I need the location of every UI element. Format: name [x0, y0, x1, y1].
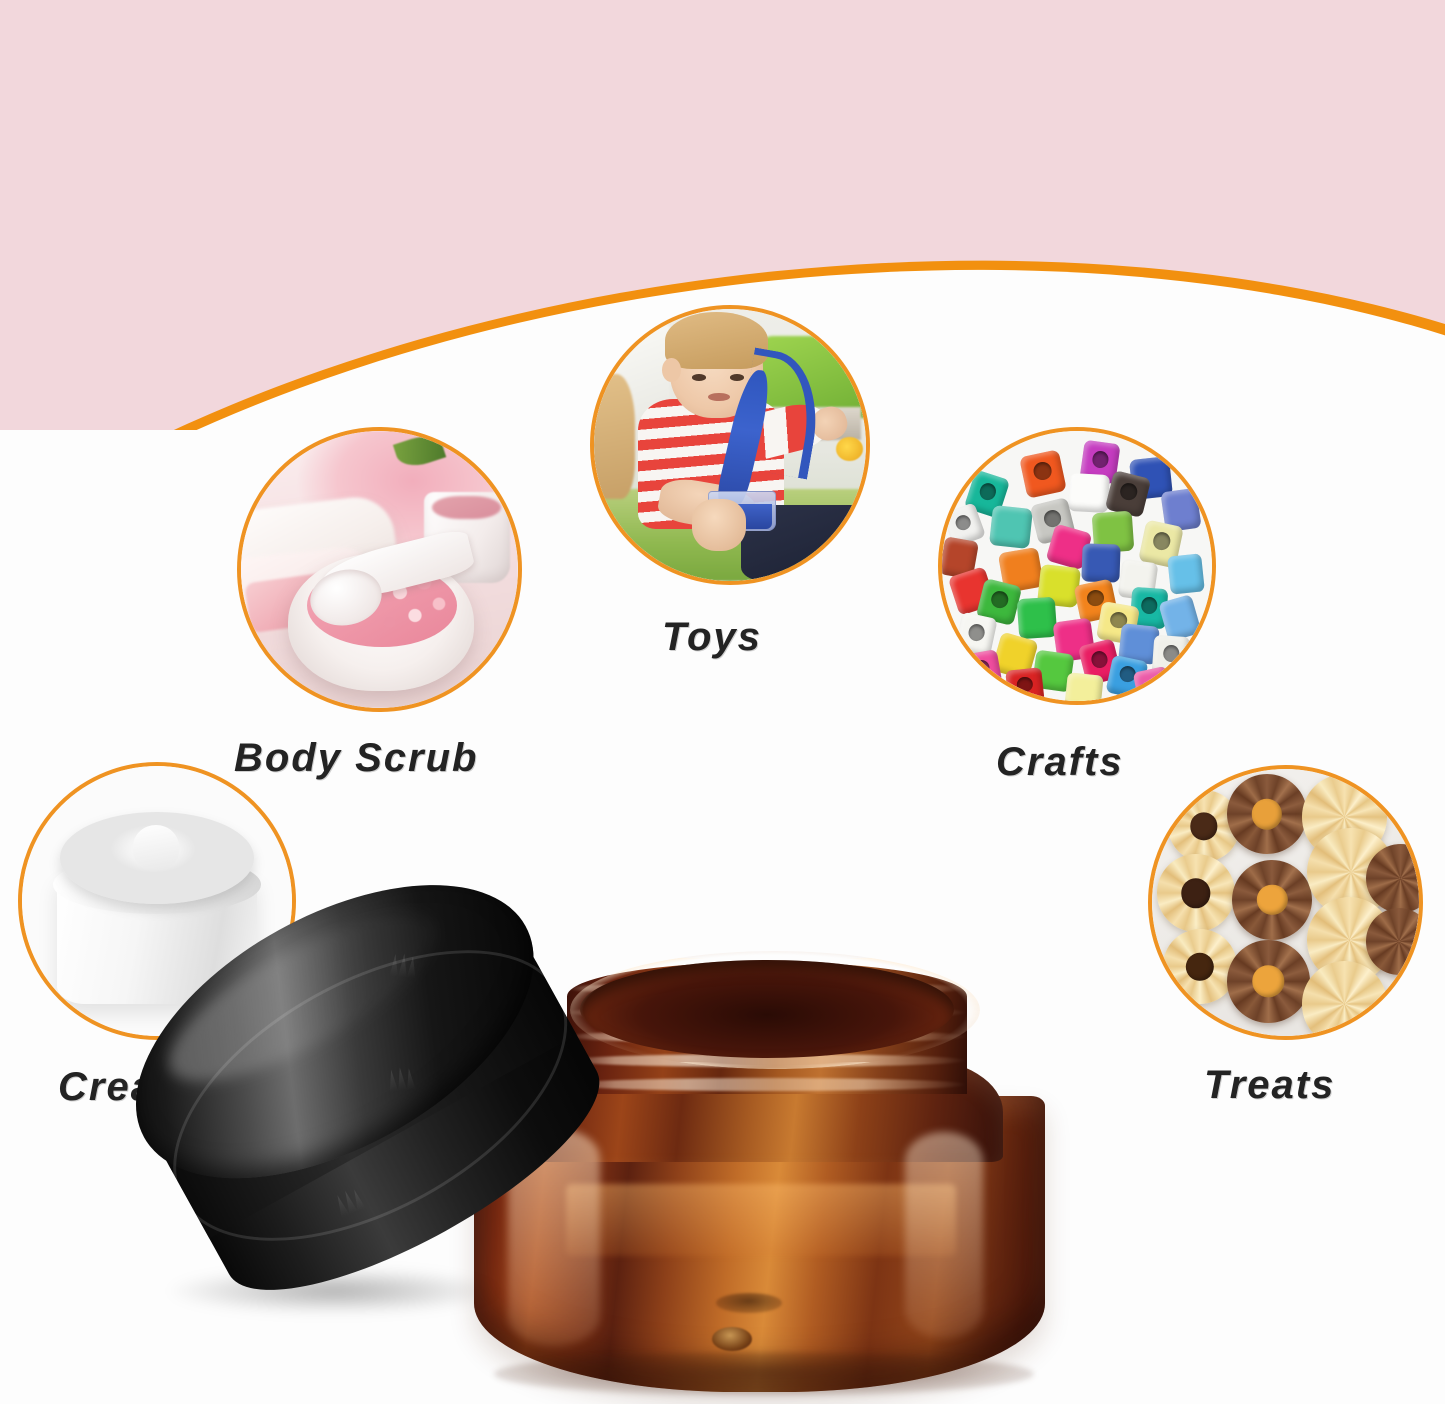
treat-cookie	[1157, 854, 1234, 931]
treat-cookie	[1227, 940, 1310, 1023]
caption-crafts: Crafts	[996, 740, 1124, 785]
use-circle-treats	[1148, 765, 1423, 1040]
craft-bead	[1016, 597, 1057, 640]
toys-left-hand	[692, 499, 746, 551]
craft-bead	[961, 650, 1003, 694]
use-circle-crafts	[938, 427, 1216, 705]
caption-treats: Treats	[1204, 1063, 1335, 1108]
craft-bead	[1005, 667, 1045, 701]
craft-bead	[1068, 473, 1110, 513]
cookie-center	[1252, 966, 1283, 997]
jar-base-dimple	[716, 1293, 782, 1313]
jar-thread-ring	[567, 1078, 967, 1091]
use-circle-toys	[590, 305, 870, 585]
cookie-center	[1181, 878, 1210, 907]
craft-bead	[1019, 449, 1067, 498]
craft-bead	[1082, 544, 1121, 583]
crafts-photo	[942, 431, 1212, 701]
treat-cookie	[1302, 961, 1387, 1036]
cookie-center	[1257, 885, 1287, 915]
jar-mouth-rim	[570, 951, 980, 1069]
caption-body-scrub: Body Scrub	[234, 736, 478, 781]
use-circle-body-scrub	[237, 427, 522, 712]
treats-photo	[1152, 769, 1419, 1036]
treat-cookie	[1227, 774, 1307, 854]
jar-base-shadow	[494, 1352, 1034, 1396]
treat-cookie	[1232, 860, 1312, 940]
toys-boy-eye-left	[692, 374, 706, 381]
jar-base-nub	[712, 1327, 752, 1351]
toys-photo	[594, 309, 866, 581]
cream-peak	[133, 825, 179, 868]
body-scrub-photo	[241, 431, 518, 708]
toys-boy-eye-right	[730, 374, 744, 381]
jar-gloss-right	[905, 1132, 983, 1338]
craft-bead	[989, 505, 1033, 549]
cookie-center	[1190, 813, 1217, 840]
cookie-center	[1252, 799, 1282, 829]
infographic-canvas: VERSATILE USES These plastic jars with l…	[0, 0, 1445, 1404]
cookie-center	[1186, 952, 1214, 980]
treat-cookie	[1163, 929, 1238, 1004]
craft-bead	[1167, 554, 1205, 595]
craft-bead	[1064, 672, 1104, 701]
toys-girl-hair	[594, 374, 635, 499]
caption-toys: Toys	[662, 615, 762, 660]
